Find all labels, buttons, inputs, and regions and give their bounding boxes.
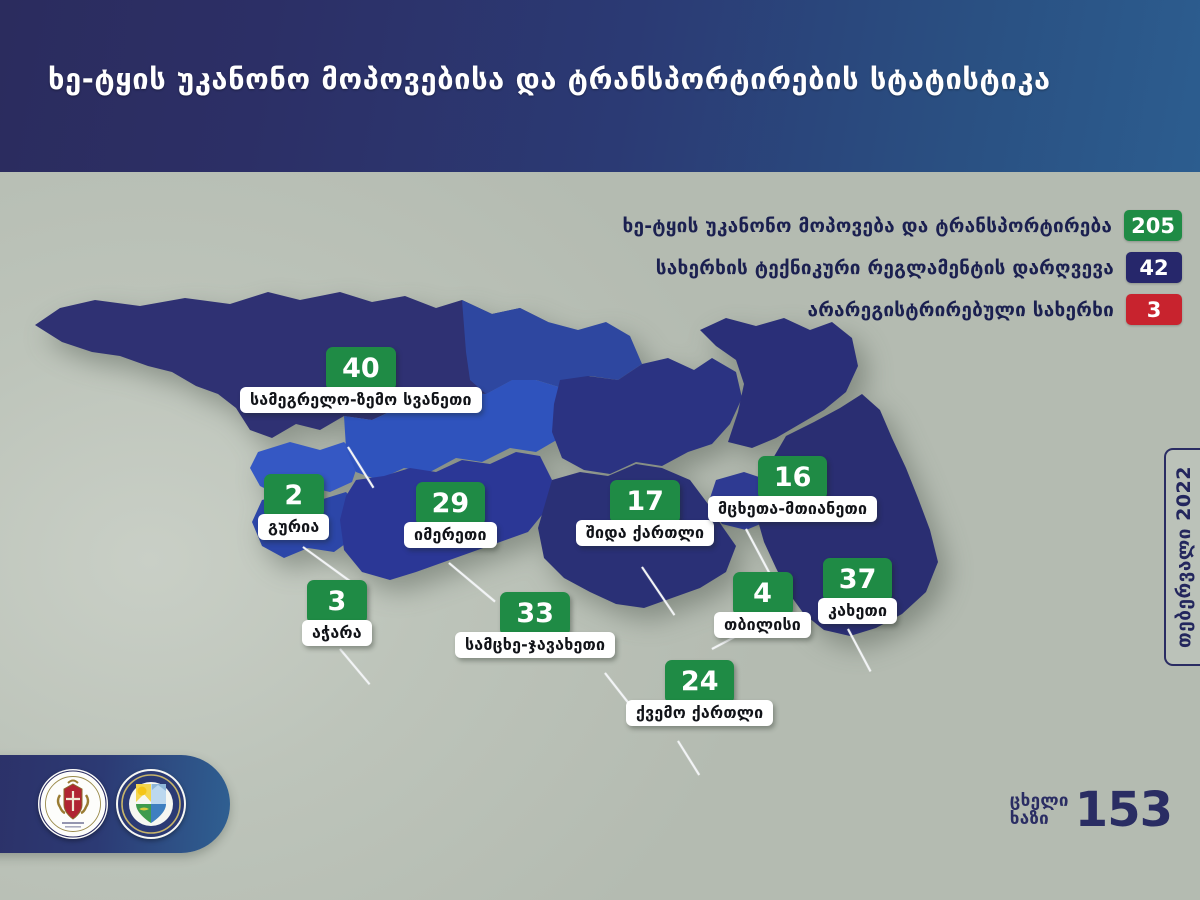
map-marker-tbilisi[interactable]: 4 თბილისი bbox=[714, 572, 811, 638]
infographic-canvas: ხე-ტყის უკანონო მოპოვებისა და ტრანსპორტი… bbox=[0, 0, 1200, 900]
marker-label: ქვემო ქართლი bbox=[626, 700, 773, 726]
map-marker-kakheti[interactable]: 37 კახეთი bbox=[818, 558, 897, 624]
hotline-words: ცხელი ხაზი bbox=[1010, 793, 1069, 828]
georgia-map: 40 სამეგრელო-ზემო სვანეთი 2 გურია 29 იმე… bbox=[0, 180, 1060, 800]
map-marker-samtskhe-javakheti[interactable]: 33 სამცხე-ჯავახეთი bbox=[455, 592, 615, 658]
hotline: ცხელი ხაზი 153 bbox=[1010, 790, 1172, 831]
map-marker-imereti[interactable]: 29 იმერეთი bbox=[404, 482, 497, 548]
period-label: თებერვალი 2022 bbox=[1173, 466, 1195, 648]
department-emblem-icon bbox=[116, 769, 186, 839]
marker-value: 24 bbox=[665, 660, 735, 704]
map-marker-shida-kartli[interactable]: 17 შიდა ქართლი bbox=[576, 480, 714, 546]
marker-value: 4 bbox=[733, 572, 793, 616]
header-banner: ხე-ტყის უკანონო მოპოვებისა და ტრანსპორტი… bbox=[0, 0, 1200, 172]
marker-value: 17 bbox=[610, 480, 680, 524]
marker-value: 3 bbox=[307, 580, 367, 624]
marker-label: აჭარა bbox=[302, 620, 372, 646]
legend-value-badge: 42 bbox=[1126, 252, 1182, 283]
marker-label: თბილისი bbox=[714, 612, 811, 638]
map-regions-svg bbox=[0, 180, 1060, 800]
legend-value-badge: 205 bbox=[1124, 210, 1182, 241]
marker-label: სამეგრელო-ზემო სვანეთი bbox=[240, 387, 482, 413]
logo-bar bbox=[0, 755, 230, 853]
hotline-line2: ხაზი bbox=[1010, 811, 1049, 828]
period-chip: თებერვალი 2022 bbox=[1164, 448, 1200, 666]
marker-value: 16 bbox=[758, 456, 828, 500]
map-marker-mtskheta-mtianeti[interactable]: 16 მცხეთა-მთიანეთი bbox=[708, 456, 877, 522]
marker-value: 40 bbox=[326, 347, 396, 391]
marker-value: 37 bbox=[823, 558, 893, 602]
marker-label: კახეთი bbox=[818, 598, 897, 624]
map-marker-samegrelo-zemo-svaneti[interactable]: 40 სამეგრელო-ზემო სვანეთი bbox=[240, 347, 482, 413]
marker-value: 2 bbox=[264, 474, 324, 518]
marker-label: სამცხე-ჯავახეთი bbox=[455, 632, 615, 658]
hotline-number: 153 bbox=[1075, 790, 1172, 831]
marker-value: 29 bbox=[416, 482, 486, 526]
marker-label: გურია bbox=[258, 514, 329, 540]
marker-label: შიდა ქართლი bbox=[576, 520, 714, 546]
map-marker-adjara[interactable]: 3 აჭარა bbox=[302, 580, 372, 646]
legend-value-badge: 3 bbox=[1126, 294, 1182, 325]
page-title: ხე-ტყის უკანონო მოპოვებისა და ტრანსპორტი… bbox=[48, 62, 1051, 96]
ministry-emblem-icon bbox=[38, 769, 108, 839]
marker-label: მცხეთა-მთიანეთი bbox=[708, 496, 877, 522]
marker-label: იმერეთი bbox=[404, 522, 497, 548]
marker-value: 33 bbox=[500, 592, 570, 636]
map-marker-kvemo-kartli[interactable]: 24 ქვემო ქართლი bbox=[626, 660, 773, 726]
map-marker-guria[interactable]: 2 გურია bbox=[258, 474, 329, 540]
